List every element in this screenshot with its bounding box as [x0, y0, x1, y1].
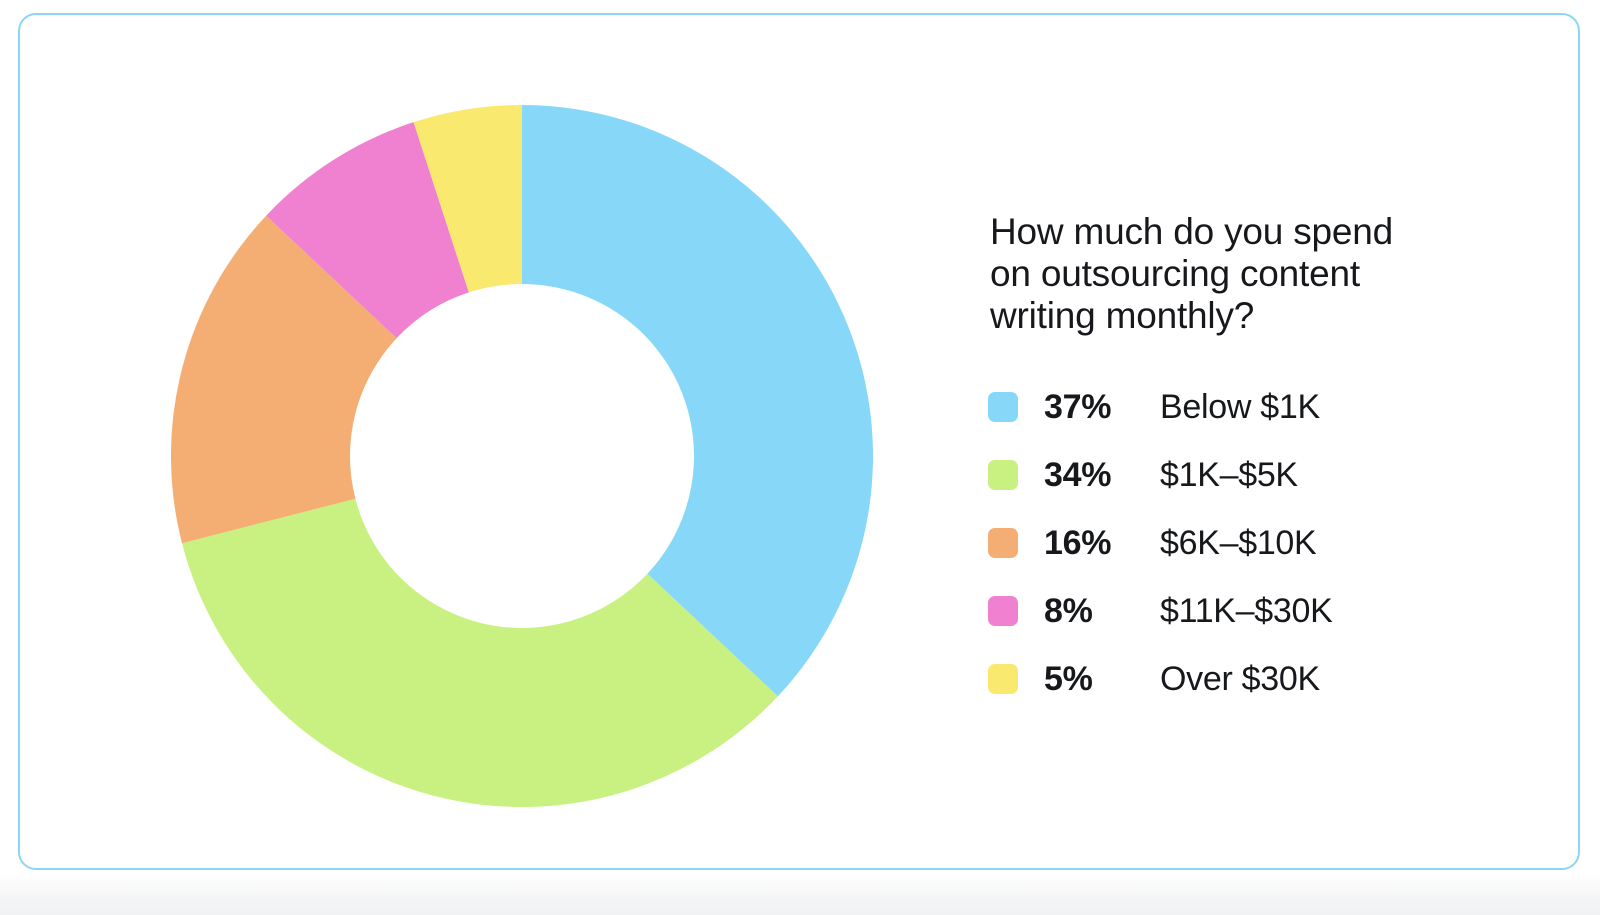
donut-chart-svg	[170, 104, 874, 808]
legend-item[interactable]: 5%Over $30K	[988, 645, 1548, 713]
donut-chart	[170, 104, 874, 808]
legend-label: $11K–$30K	[1160, 592, 1333, 631]
legend-swatch-icon	[988, 528, 1018, 558]
legend-percent: 37%	[1044, 388, 1160, 427]
legend-swatch-icon	[988, 460, 1018, 490]
chart-info-panel: How much do you spend on outsourcing con…	[988, 211, 1548, 713]
legend-swatch-icon	[988, 664, 1018, 694]
legend-percent: 16%	[1044, 524, 1160, 563]
legend-label: $1K–$5K	[1160, 456, 1298, 495]
legend-label: $6K–$10K	[1160, 524, 1316, 563]
legend-swatch-icon	[988, 392, 1018, 422]
legend-item[interactable]: 16%$6K–$10K	[988, 509, 1548, 577]
donut-slice-group	[171, 105, 873, 807]
legend-swatch-icon	[988, 596, 1018, 626]
legend-percent: 34%	[1044, 456, 1160, 495]
legend-percent: 8%	[1044, 592, 1160, 631]
legend-percent: 5%	[1044, 660, 1160, 699]
page-root: How much do you spend on outsourcing con…	[0, 0, 1600, 915]
chart-card: How much do you spend on outsourcing con…	[18, 13, 1580, 870]
legend-label: Below $1K	[1160, 388, 1320, 427]
chart-title: How much do you spend on outsourcing con…	[990, 211, 1420, 337]
legend-item[interactable]: 37%Below $1K	[988, 373, 1548, 441]
page-underlay	[0, 874, 1600, 915]
legend-item[interactable]: 8%$11K–$30K	[988, 577, 1548, 645]
legend-label: Over $30K	[1160, 660, 1320, 699]
chart-legend: 37%Below $1K34%$1K–$5K16%$6K–$10K8%$11K–…	[988, 373, 1548, 713]
legend-item[interactable]: 34%$1K–$5K	[988, 441, 1548, 509]
donut-slice[interactable]	[522, 105, 873, 696]
